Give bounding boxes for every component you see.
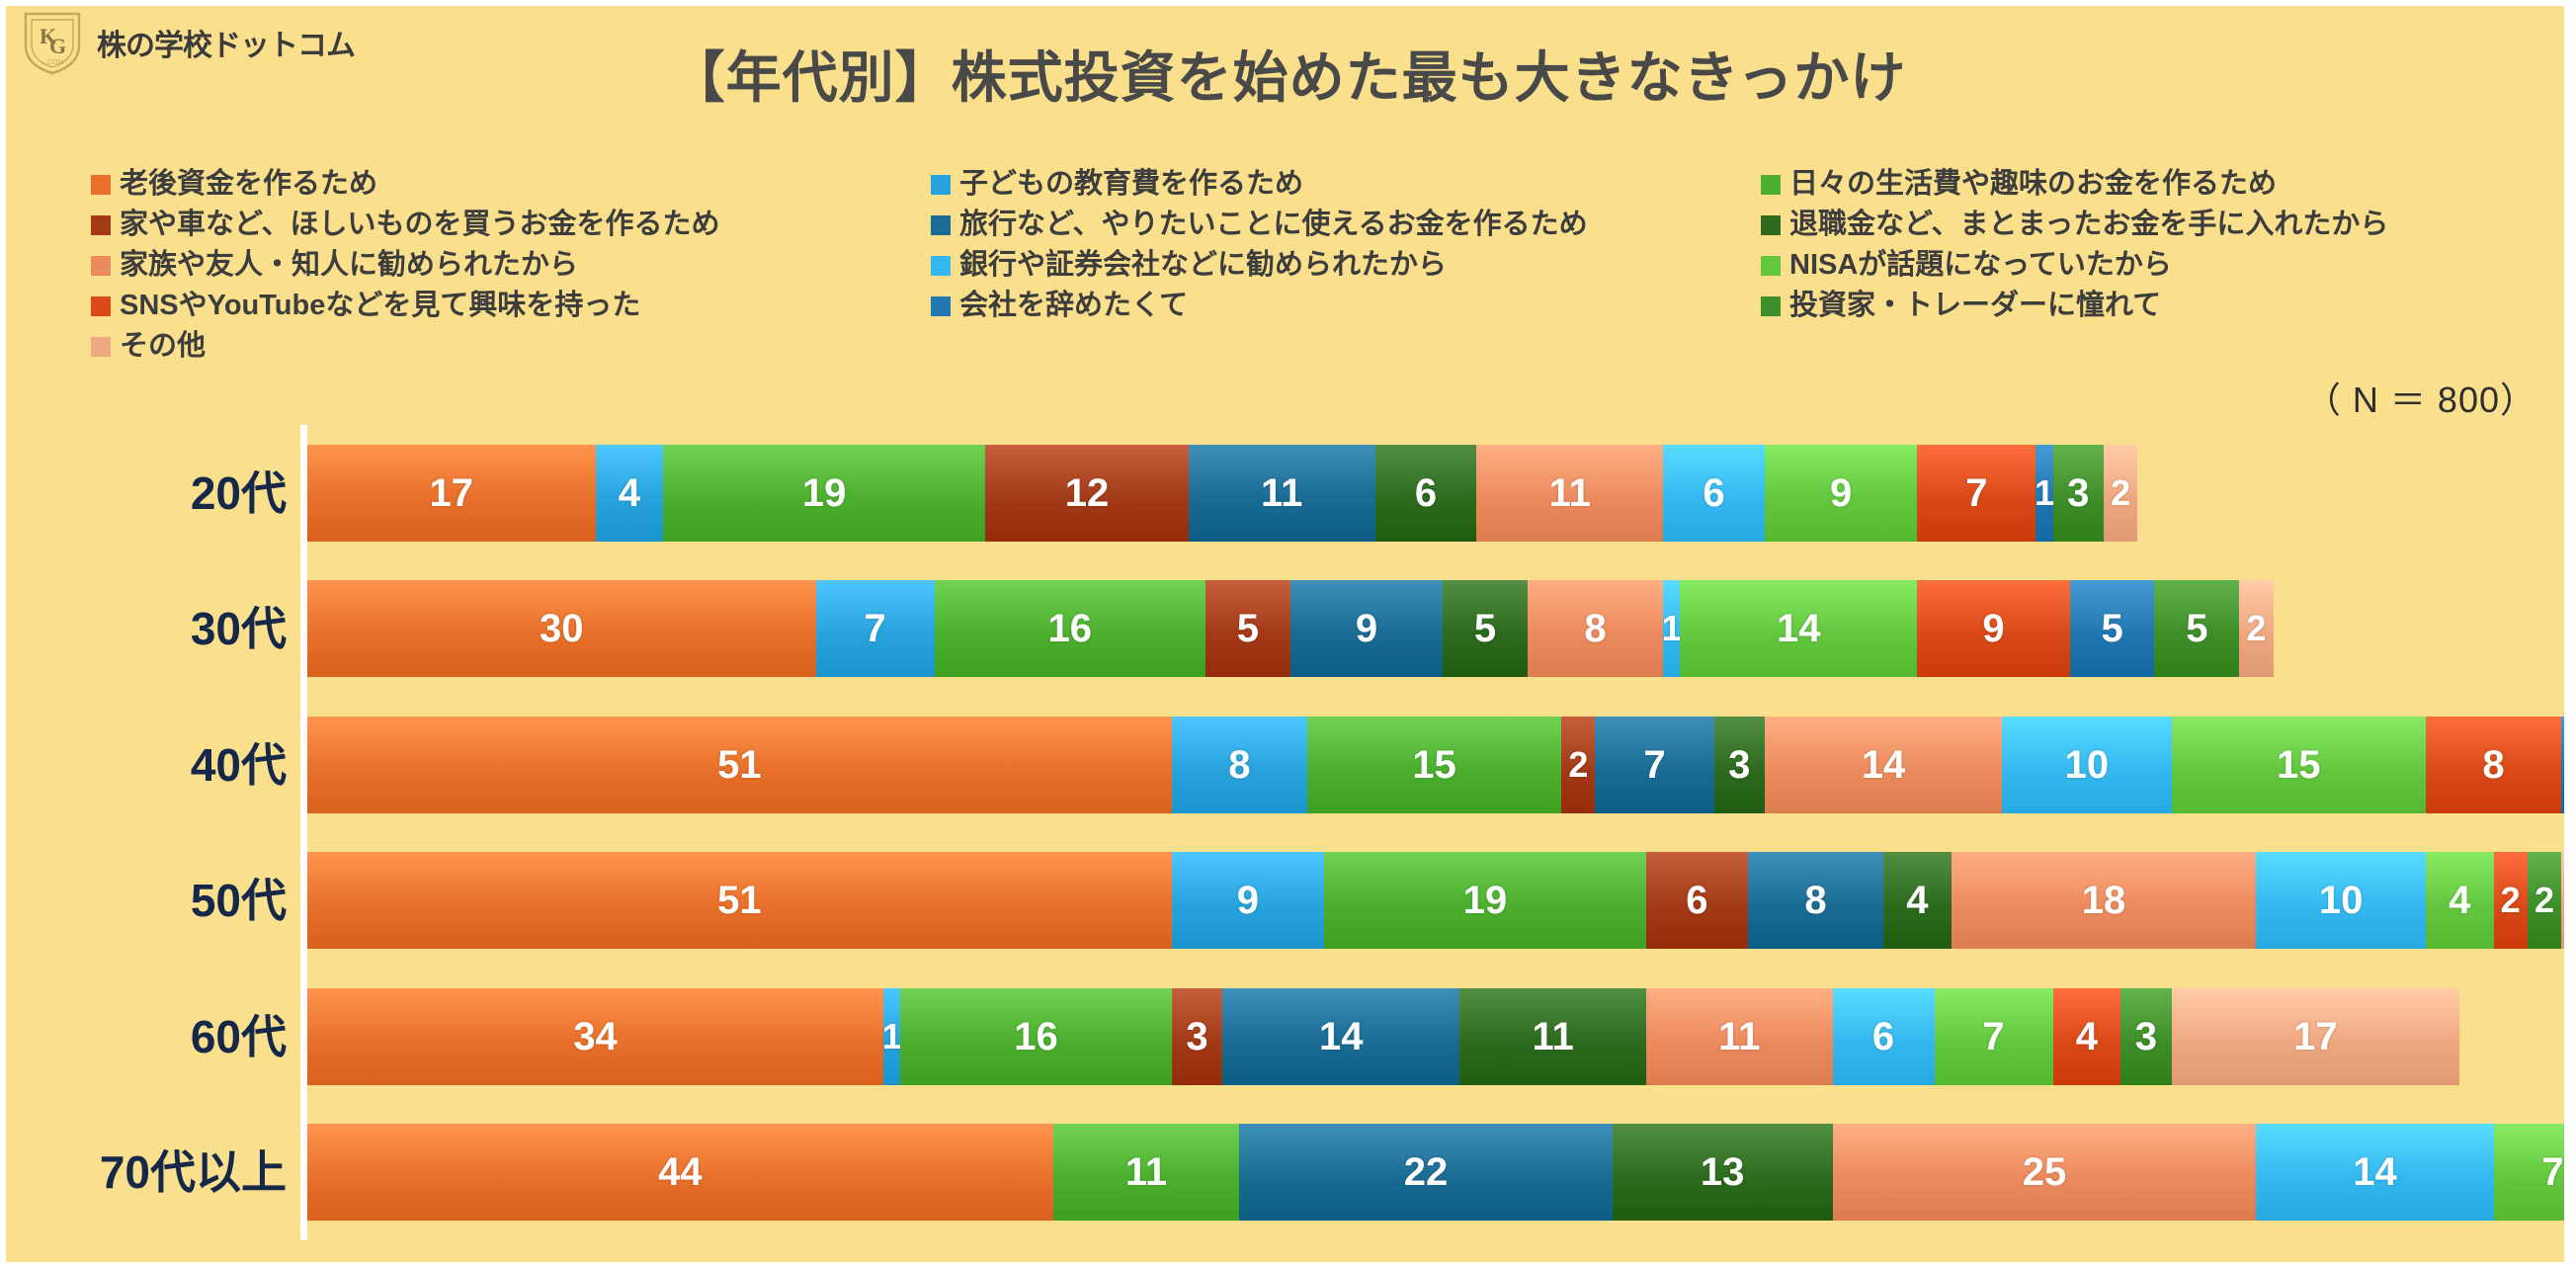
bar-segment-value: 9 xyxy=(1830,473,1852,513)
bar-segment[interactable]: 8 xyxy=(2426,717,2561,813)
legend-swatch-icon xyxy=(1761,215,1781,235)
chart-row: 60代341163141111674317 xyxy=(0,969,2576,1105)
stacked-bar: 518152731410158654 xyxy=(307,717,2576,813)
legend-label: 投資家・トレーダーに憧れて xyxy=(1789,292,2161,320)
legend-label: 日々の生活費や趣味のお金を作るため xyxy=(1789,170,2277,199)
legend-swatch-icon xyxy=(1761,175,1781,195)
chart-rows: 20代17419121161169713230代3071659581149552… xyxy=(0,425,2576,1240)
bar-segment-value: 4 xyxy=(2076,1017,2098,1057)
bar-segment[interactable]: 17 xyxy=(307,445,596,542)
bar-segment-value: 14 xyxy=(1777,609,1821,648)
bar-segment[interactable]: 22 xyxy=(1239,1124,1612,1221)
bar-segment[interactable]: 16 xyxy=(2561,852,2576,949)
bar-segment-value: 17 xyxy=(430,473,474,513)
legend-item[interactable]: SNSやYouTubeなどを見て興味を持った xyxy=(91,290,931,322)
bar-segment[interactable]: 14 xyxy=(1222,988,1459,1085)
legend-item[interactable]: 家族や友人・知人に勧められたから xyxy=(91,249,931,282)
bar-segment[interactable]: 7 xyxy=(1595,717,1713,813)
legend-swatch-icon xyxy=(91,337,111,357)
bar-segment[interactable]: 16 xyxy=(935,580,1205,677)
bar-segment[interactable]: 2 xyxy=(1561,717,1595,813)
stacked-bar: 174191211611697132 xyxy=(307,445,2137,542)
legend-swatch-icon xyxy=(1761,256,1781,276)
bar-segment[interactable]: 14 xyxy=(2256,1124,2493,1221)
bar-segment[interactable]: 9 xyxy=(1765,445,1917,542)
bar-segment-value: 30 xyxy=(540,609,584,648)
bar-segment[interactable]: 8 xyxy=(1528,580,1663,677)
legend-item[interactable]: 退職金など、まとまったお金を手に入れたから xyxy=(1761,209,2492,241)
bar-segment-value: 4 xyxy=(2449,881,2470,920)
stacked-bar: 341163141111674317 xyxy=(307,988,2459,1085)
legend-swatch-icon xyxy=(91,256,111,276)
legend-swatch-icon xyxy=(931,296,951,316)
legend-label: 家や車など、ほしいものを買うお金を作るため xyxy=(120,211,720,239)
bar-segment-value: 22 xyxy=(1404,1152,1449,1192)
row-label-30代: 30代 xyxy=(0,606,287,651)
legend-item[interactable]: 投資家・トレーダーに憧れて xyxy=(1761,290,2492,322)
bar-segment[interactable]: 11 xyxy=(1053,1124,1240,1221)
legend-label: NISAが話題になっていたから xyxy=(1789,251,2172,280)
bar-segment[interactable]: 13 xyxy=(1613,1124,1833,1221)
bar-segment-value: 3 xyxy=(1728,745,1750,785)
bar-segment[interactable]: 30 xyxy=(307,580,816,677)
legend-item[interactable]: 旅行など、やりたいことに使えるお金を作るため xyxy=(931,209,1761,241)
bar-segment[interactable]: 17 xyxy=(2172,988,2460,1085)
bar-segment-value: 14 xyxy=(1862,745,1906,785)
bar-segment[interactable]: 19 xyxy=(663,445,985,542)
legend-label: 退職金など、まとまったお金を手に入れたから xyxy=(1789,211,2388,239)
bar-segment[interactable]: 5 xyxy=(1205,580,1290,677)
bar-segment-value: 4 xyxy=(619,473,640,513)
bar-segment-value: 9 xyxy=(1237,881,1259,920)
bar-segment[interactable]: 11 xyxy=(1459,988,1646,1085)
bar-segment[interactable]: 44 xyxy=(307,1124,1053,1221)
bar-segment[interactable]: 6 xyxy=(1663,445,1765,542)
stacked-bar: 3071659581149552 xyxy=(307,580,2274,677)
chart-row: 50代51919684181042216 xyxy=(0,833,2576,970)
chart-page: K G .COM 株の学校ドットコム 【年代別】株式投資を始めた最も大きなきっか… xyxy=(0,0,2576,1268)
bar-segment-value: 1 xyxy=(1662,611,1682,646)
legend-label: SNSやYouTubeなどを見て興味を持った xyxy=(120,292,640,320)
bar-segment-value: 19 xyxy=(802,473,847,513)
bar-segment[interactable]: 15 xyxy=(2172,717,2426,813)
bar-segment[interactable]: 5 xyxy=(2070,580,2155,677)
legend-item[interactable]: NISAが話題になっていたから xyxy=(1761,249,2492,282)
chart-legend: 老後資金を作るため子どもの教育費を作るため日々の生活費や趣味のお金を作るため家や… xyxy=(91,168,2492,363)
bar-segment-value: 51 xyxy=(717,881,762,920)
bar-segment[interactable]: 11 xyxy=(1476,445,1663,542)
sample-size-note: （ N ＝ 800） xyxy=(2305,372,2536,423)
bar-segment-value: 5 xyxy=(2101,609,2122,648)
bar-segment[interactable]: 1 xyxy=(1663,580,1680,677)
bar-segment[interactable]: 3 xyxy=(2053,445,2104,542)
bar-segment-value: 6 xyxy=(1872,1017,1894,1057)
bar-segment[interactable]: 11 xyxy=(1646,988,1833,1085)
bar-segment-value: 2 xyxy=(2534,883,2554,918)
legend-label: 旅行など、やりたいことに使えるお金を作るため xyxy=(959,211,1588,239)
bar-segment-value: 15 xyxy=(1412,745,1456,785)
bar-segment[interactable]: 19 xyxy=(1324,852,1646,949)
stacked-bar: 4411221325147115 xyxy=(307,1124,2576,1221)
bar-segment[interactable]: 18 xyxy=(1952,852,2257,949)
bar-segment[interactable]: 4 xyxy=(596,445,664,542)
bar-segment[interactable]: 14 xyxy=(1680,580,1917,677)
bar-segment-value: 9 xyxy=(1982,609,2004,648)
legend-swatch-icon xyxy=(91,296,111,316)
bar-segment[interactable]: 4 xyxy=(1883,852,1952,949)
legend-label: 家族や友人・知人に勧められたから xyxy=(120,251,578,280)
bar-segment[interactable]: 8 xyxy=(1172,717,1307,813)
bar-segment-value: 18 xyxy=(2082,881,2126,920)
bar-segment[interactable]: 12 xyxy=(985,445,1189,542)
bar-segment-value: 19 xyxy=(1463,881,1508,920)
row-label-60代: 60代 xyxy=(0,1014,287,1059)
legend-item[interactable]: 銀行や証券会社などに勧められたから xyxy=(931,249,1761,282)
legend-label: 老後資金を作るため xyxy=(120,170,377,199)
bar-segment[interactable]: 51 xyxy=(307,717,1172,813)
bar-segment-value: 1 xyxy=(2035,475,2054,511)
bar-segment-value: 51 xyxy=(717,745,762,785)
legend-swatch-icon xyxy=(91,215,111,235)
row-label-50代: 50代 xyxy=(0,878,287,923)
bar-segment-value: 7 xyxy=(1982,1017,2004,1057)
bar-segment-value: 3 xyxy=(1186,1017,1207,1057)
legend-swatch-icon xyxy=(91,175,111,195)
bar-segment[interactable]: 6 xyxy=(2561,717,2576,813)
legend-label: 会社を辞めたくて xyxy=(959,292,1188,320)
chart-row: 40代518152731410158654 xyxy=(0,697,2576,833)
bar-segment[interactable]: 2 xyxy=(2528,852,2561,949)
bar-segment-value: 2 xyxy=(2111,475,2130,511)
bar-segment-value: 5 xyxy=(1474,609,1496,648)
bar-segment-value: 2 xyxy=(2246,611,2266,646)
bar-segment[interactable]: 10 xyxy=(2256,852,2426,949)
bar-segment[interactable]: 1 xyxy=(883,988,900,1085)
bar-segment[interactable]: 9 xyxy=(1290,580,1443,677)
bar-segment-value: 16 xyxy=(1048,609,1093,648)
bar-segment[interactable]: 11 xyxy=(1189,445,1375,542)
bar-segment[interactable]: 4 xyxy=(2426,852,2494,949)
bar-segment-value: 5 xyxy=(1237,609,1259,648)
bar-segment[interactable]: 6 xyxy=(1375,445,1477,542)
bar-segment-value: 4 xyxy=(1906,881,1928,920)
bar-segment-value: 8 xyxy=(1228,745,1250,785)
bar-segment-value: 8 xyxy=(1804,881,1826,920)
bar-segment-value: 7 xyxy=(2541,1152,2563,1192)
bar-segment[interactable]: 14 xyxy=(1765,717,2002,813)
bar-segment-value: 3 xyxy=(2067,473,2089,513)
bar-segment-value: 13 xyxy=(1701,1152,1745,1192)
bar-segment[interactable]: 2 xyxy=(2494,852,2528,949)
bar-segment-value: 16 xyxy=(1014,1017,1058,1057)
legend-item[interactable]: 子どもの教育費を作るため xyxy=(931,168,1761,201)
stacked-bar-chart: 20代17419121161169713230代3071659581149552… xyxy=(0,425,2576,1240)
bar-segment[interactable]: 8 xyxy=(1748,852,1883,949)
bar-segment-value: 11 xyxy=(1532,1017,1573,1057)
legend-item[interactable]: 家や車など、ほしいものを買うお金を作るため xyxy=(91,209,931,241)
bar-segment-value: 2 xyxy=(1568,747,1588,783)
bar-segment-value: 10 xyxy=(2065,745,2110,785)
bar-segment-value: 25 xyxy=(2023,1152,2067,1192)
bar-segment-value: 2 xyxy=(2501,883,2521,918)
row-label-40代: 40代 xyxy=(0,742,287,788)
row-label-20代: 20代 xyxy=(0,470,287,516)
bar-segment-value: 34 xyxy=(573,1017,618,1057)
chart-row: 20代174191211611697132 xyxy=(0,425,2576,561)
legend-item[interactable]: 会社を辞めたくて xyxy=(931,290,1761,322)
legend-swatch-icon xyxy=(1761,296,1781,316)
bar-segment[interactable]: 6 xyxy=(1833,988,1935,1085)
bar-segment[interactable]: 34 xyxy=(307,988,883,1085)
bar-segment-value: 14 xyxy=(1319,1017,1364,1057)
bar-segment-value: 9 xyxy=(1356,609,1377,648)
legend-swatch-icon xyxy=(931,215,951,235)
bar-segment-value: 11 xyxy=(1125,1152,1167,1192)
bar-segment-value: 11 xyxy=(1718,1017,1760,1057)
bar-segment[interactable]: 16 xyxy=(900,988,1171,1085)
bar-segment[interactable]: 5 xyxy=(1443,580,1528,677)
legend-label: 子どもの教育費を作るため xyxy=(959,170,1303,199)
bar-segment-value: 5 xyxy=(2186,609,2207,648)
bar-segment-value: 1 xyxy=(882,1019,902,1055)
bar-segment[interactable]: 6 xyxy=(1646,852,1748,949)
stacked-bar: 51919684181042216 xyxy=(307,852,2576,949)
bar-segment[interactable]: 9 xyxy=(1172,852,1324,949)
bar-segment-value: 7 xyxy=(1965,473,1987,513)
bar-segment-value: 8 xyxy=(2482,745,2504,785)
bar-segment[interactable]: 2 xyxy=(2104,445,2137,542)
bar-segment[interactable]: 9 xyxy=(1917,580,2069,677)
bar-segment[interactable]: 4 xyxy=(2053,988,2121,1085)
bar-segment[interactable]: 10 xyxy=(2002,717,2172,813)
bar-segment[interactable]: 7 xyxy=(1935,988,2053,1085)
bar-segment-value: 15 xyxy=(2277,745,2321,785)
bar-segment[interactable]: 1 xyxy=(2036,445,2052,542)
bar-segment[interactable]: 51 xyxy=(307,852,1172,949)
legend-item[interactable]: 日々の生活費や趣味のお金を作るため xyxy=(1761,168,2492,201)
bar-segment-value: 6 xyxy=(1703,473,1724,513)
bar-segment[interactable]: 7 xyxy=(816,580,935,677)
bar-segment-value: 7 xyxy=(1643,745,1665,785)
legend-swatch-icon xyxy=(931,175,951,195)
bar-segment-value: 7 xyxy=(864,609,885,648)
legend-item[interactable]: その他 xyxy=(91,330,931,363)
bar-segment-value: 12 xyxy=(1065,473,1110,513)
bar-segment-value: 8 xyxy=(1584,609,1606,648)
bar-segment[interactable]: 2 xyxy=(2239,580,2273,677)
legend-label: その他 xyxy=(120,332,206,361)
bar-segment-value: 3 xyxy=(2135,1017,2157,1057)
bar-segment-value: 44 xyxy=(658,1152,703,1192)
chart-row: 30代3071659581149552 xyxy=(0,561,2576,698)
legend-swatch-icon xyxy=(931,256,951,276)
bar-segment-value: 14 xyxy=(2353,1152,2397,1192)
bar-segment[interactable]: 7 xyxy=(2494,1124,2576,1221)
bar-segment-value: 6 xyxy=(1415,473,1437,513)
bar-segment[interactable]: 3 xyxy=(2120,988,2171,1085)
bar-segment-value: 6 xyxy=(1686,881,1707,920)
bar-segment[interactable]: 25 xyxy=(1833,1124,2257,1221)
legend-label: 銀行や証券会社などに勧められたから xyxy=(959,251,1447,280)
chart-row: 70代以上4411221325147115 xyxy=(0,1105,2576,1241)
bar-segment[interactable]: 5 xyxy=(2154,580,2239,677)
bar-segment[interactable]: 15 xyxy=(1307,717,1561,813)
bar-segment[interactable]: 3 xyxy=(1172,988,1222,1085)
bar-segment[interactable]: 3 xyxy=(1714,717,1765,813)
bar-segment[interactable]: 7 xyxy=(1917,445,2036,542)
page-title: 【年代別】株式投資を始めた最も大きなきっかけ xyxy=(0,34,2576,114)
bar-segment-value: 17 xyxy=(2293,1017,2338,1057)
legend-item[interactable]: 老後資金を作るため xyxy=(91,168,931,201)
row-label-70代以上: 70代以上 xyxy=(0,1149,287,1195)
bar-segment-value: 11 xyxy=(1549,473,1591,513)
bar-segment-value: 11 xyxy=(1261,473,1302,513)
bar-segment-value: 10 xyxy=(2319,881,2364,920)
